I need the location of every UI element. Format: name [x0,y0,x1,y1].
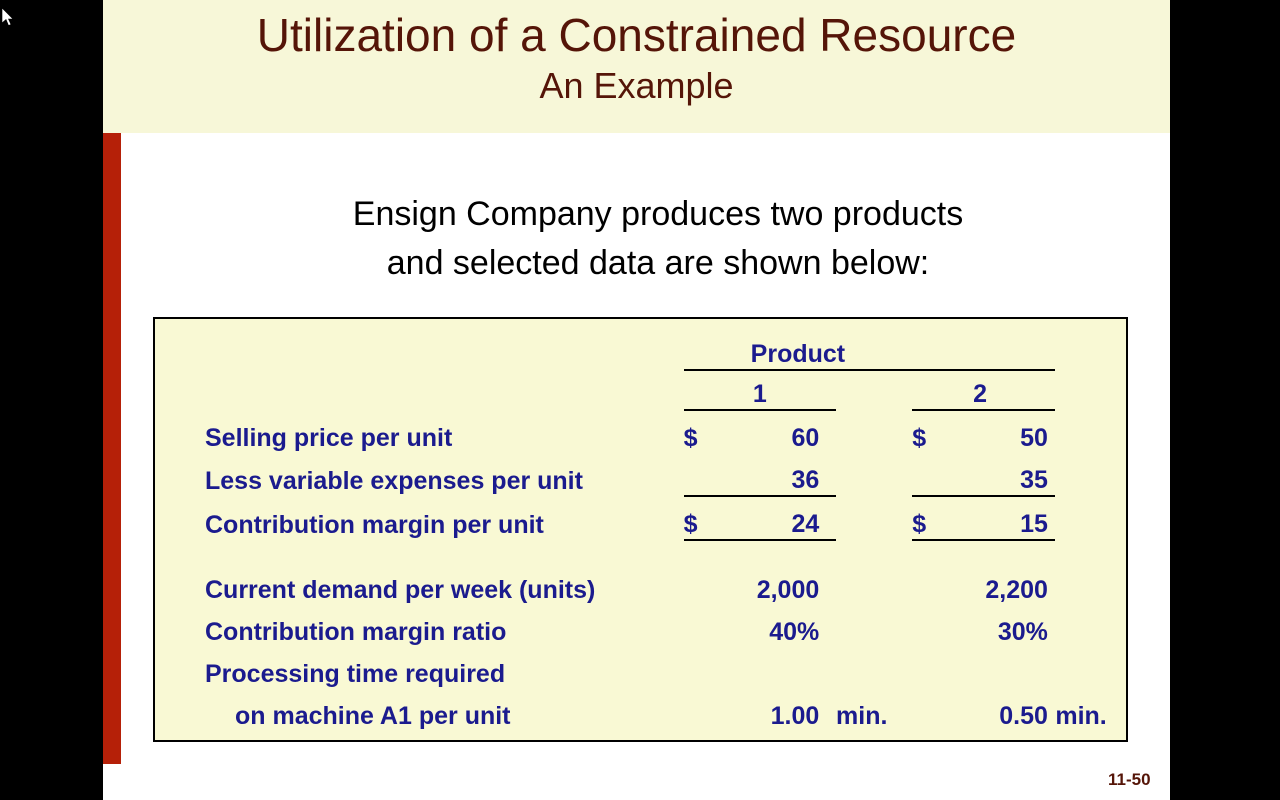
row-6-p1-symbol [684,689,724,731]
table-row-column-numbers: 1 2 [155,370,1126,410]
column-header-2-rule [1048,370,1055,410]
row-label: Current demand per week (units) [155,563,684,605]
empty-cell [155,319,684,370]
row-2-p1-unit [836,496,912,540]
row-2-p1-symbol: $ [684,496,724,540]
row-2-p2-value: 15 [952,496,1048,540]
row-3-p2-value: 2,200 [952,563,1048,605]
spacer-cell [1048,496,1055,540]
row-5-p2-unit [1055,647,1126,689]
row-label: Contribution margin ratio [155,605,684,647]
spacer-cell [819,689,836,731]
row-0-p2-unit [1055,410,1126,453]
row-5-p2-symbol [912,647,952,689]
page-title: Utilization of a Constrained Resource [103,6,1170,64]
table-row: Selling price per unit $ 60 $ 50 [155,410,1126,453]
row-3-p2-symbol [912,563,952,605]
row-0-p2-symbol: $ [912,410,952,453]
product-data-table: Product 1 2 Selling price p [155,319,1126,731]
mouse-cursor-icon [2,8,16,28]
row-0-p1-value: 60 [724,410,820,453]
row-5-p1-value [724,647,820,689]
table-row: Processing time required [155,647,1126,689]
spacer-cell [1055,319,1126,370]
row-6-p2-unit: min. [1055,689,1126,731]
data-table-panel: Product 1 2 Selling price p [153,317,1128,742]
row-label: Selling price per unit [155,410,684,453]
row-4-p1-value: 40% [724,605,820,647]
row-4-p1-unit [836,605,912,647]
row-1-p1-symbol [684,453,724,496]
spacer-cell [1048,319,1055,370]
table-row: Current demand per week (units) 2,000 2,… [155,563,1126,605]
table-row-group-header: Product [155,319,1126,370]
table-row-spacer [155,540,1126,563]
row-2-p2-symbol: $ [912,496,952,540]
row-5-p2-value [952,647,1048,689]
presentation-screen: Utilization of a Constrained Resource An… [0,0,1280,800]
row-6-p1-value: 1.00 [724,689,820,731]
row-3-p2-unit [1055,563,1126,605]
spacer-cell [819,647,836,689]
slide-title-band: Utilization of a Constrained Resource An… [103,0,1170,133]
row-1-p2-symbol [912,453,952,496]
column-header-1: 1 [684,370,836,410]
row-label: Contribution margin per unit [155,496,684,540]
row-6-p1-unit: min. [836,689,912,731]
row-label: Processing time required [155,647,684,689]
row-2-p2-unit [1055,496,1126,540]
table-row: on machine A1 per unit 1.00 min. 0.50 mi… [155,689,1126,731]
page-number: 11-50 [1108,770,1151,790]
row-1-p2-value: 35 [952,453,1048,496]
intro-line-2: and selected data are shown below: [158,239,1158,288]
row-6-p2-symbol [912,689,952,731]
spacer-cell [819,496,836,540]
spacer-cell [1048,605,1055,647]
spacer-cell [1048,453,1055,496]
row-6-p2-value: 0.50 [952,689,1048,731]
spacer-cell [819,453,836,496]
row-0-p2-value: 50 [952,410,1048,453]
intro-text: Ensign Company produces two products and… [158,190,1158,288]
spacer-cell [1048,689,1055,731]
row-1-p2-unit [1055,453,1126,496]
column-gap [836,370,912,410]
row-1-p1-value: 36 [724,453,820,496]
group-header-product: Product [684,319,913,370]
row-4-p2-symbol [912,605,952,647]
row-4-p2-value: 30% [952,605,1048,647]
column-header-2: 2 [912,370,1048,410]
empty-cell [155,370,684,410]
row-0-p1-symbol: $ [684,410,724,453]
row-4-p1-symbol [684,605,724,647]
spacer-cell [1048,410,1055,453]
table-row: Contribution margin ratio 40% 30% [155,605,1126,647]
accent-bar [103,133,121,764]
spacer-cell [1048,563,1055,605]
row-5-p1-symbol [684,647,724,689]
row-5-p1-unit [836,647,912,689]
intro-line-1: Ensign Company produces two products [158,190,1158,239]
table-row: Contribution margin per unit $ 24 $ 15 [155,496,1126,540]
spacer-cell [819,605,836,647]
row-label: Less variable expenses per unit [155,453,684,496]
row-0-p1-unit [836,410,912,453]
spacer-cell [1055,370,1126,410]
spacer-cell [1048,647,1055,689]
row-4-p2-unit [1055,605,1126,647]
row-label: on machine A1 per unit [155,689,684,731]
row-3-p1-symbol [684,563,724,605]
group-header-spacer [912,319,1048,370]
slide-canvas: Utilization of a Constrained Resource An… [103,0,1170,800]
row-2-p1-value: 24 [724,496,820,540]
spacer-cell [819,563,836,605]
spacer-cell [819,410,836,453]
row-1-p1-unit [836,453,912,496]
row-3-p1-value: 2,000 [724,563,820,605]
spacer-cell [155,540,1126,563]
row-3-p1-unit [836,563,912,605]
table-row: Less variable expenses per unit 36 35 [155,453,1126,496]
page-subtitle: An Example [103,64,1170,108]
